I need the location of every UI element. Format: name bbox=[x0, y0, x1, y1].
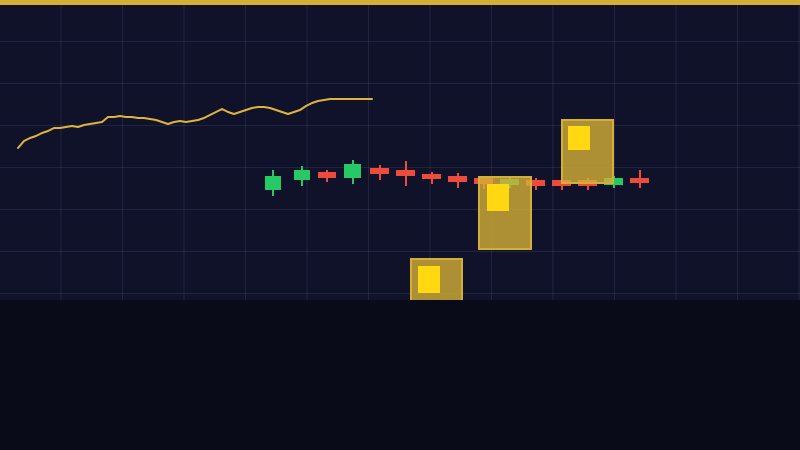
prediction-box-core bbox=[418, 266, 440, 293]
prediction-box-core bbox=[487, 184, 509, 211]
prediction-box-upper bbox=[561, 119, 614, 184]
candlestick-down bbox=[422, 172, 441, 184]
candlestick-up bbox=[344, 160, 361, 184]
candlestick-down bbox=[318, 170, 336, 182]
candle-body bbox=[396, 170, 415, 176]
prediction-box-lower bbox=[410, 258, 463, 300]
candlestick-down bbox=[396, 161, 415, 186]
candle-body bbox=[422, 174, 441, 179]
candlestick-down bbox=[630, 170, 649, 188]
prediction-box-middle bbox=[478, 176, 532, 250]
candle-body bbox=[448, 176, 467, 182]
candlestick-up bbox=[265, 170, 281, 196]
candle-body bbox=[294, 170, 310, 180]
prediction-box-core bbox=[568, 126, 590, 150]
candle-body bbox=[370, 168, 389, 174]
chart-panel bbox=[0, 5, 800, 300]
candle-body bbox=[630, 178, 649, 183]
history-line-series bbox=[0, 5, 800, 300]
candle-body bbox=[265, 176, 281, 190]
gold-price-prediction-graphic: Gold Price Prediction 2026 Forecast XM x… bbox=[0, 0, 800, 450]
candlestick-down bbox=[448, 173, 467, 188]
candlestick-up bbox=[294, 166, 310, 186]
candle-body bbox=[318, 172, 336, 178]
candlestick-down bbox=[370, 165, 389, 180]
candle-body bbox=[344, 164, 361, 178]
caption-banner: Gold Price Prediction 2026 Forecast XM x… bbox=[0, 300, 800, 450]
